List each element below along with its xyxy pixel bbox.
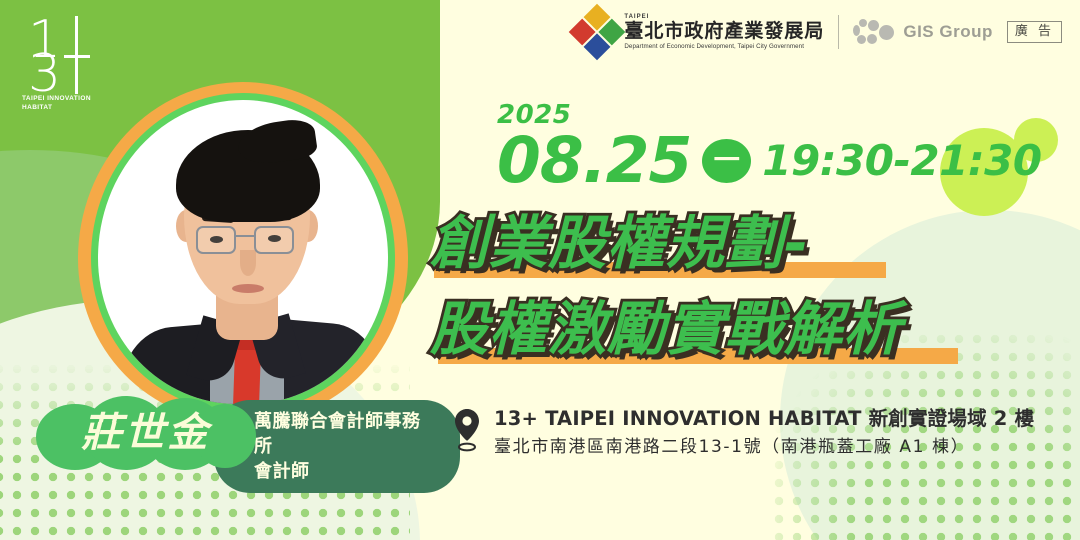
portrait-illustration [98,100,388,404]
venue-text: 13+ TAIPEI INNOVATION HABITAT 新創實證場域 2 樓… [494,406,1034,461]
glasses-right-lens [254,226,294,254]
gis-group-name: GIS Group [903,22,993,42]
event-date-row: 08.25 一 19:30-21:30 [497,128,1042,194]
gis-dots-icon [853,17,895,47]
title-line-1-wrap: 創業股權規劃- [430,208,1010,282]
speaker-name: 莊世金 [82,411,211,455]
venue-address: 臺北市南港區南港路二段13-1號（南港瓶蓋工廠 A1 棟） [494,434,1034,461]
habitat-logo-digit-three: 3 [28,48,61,100]
event-banner: 1 3 TAIPEI INNOVATION HABITAT TAIPEI 臺北市… [0,0,1080,540]
taipei-logo-name-cn: 臺北市政府產業發展局 [624,20,824,42]
speaker-role: 會計師 [254,459,438,484]
gis-group-logo: GIS Group [853,17,993,47]
title-line-1: 創業股權規劃- [430,208,1010,278]
taipei-logo-name-en: Department of Economic Development, Taip… [624,43,824,50]
venue-name: 13+ TAIPEI INNOVATION HABITAT 新創實證場域 2 樓 [494,406,1034,432]
habitat-logo-plus-horizontal [64,55,90,58]
event-datetime: 2025 08.25 一 19:30-21:30 [497,100,1042,194]
header-logos: TAIPEI 臺北市政府產業發展局 Department of Economic… [577,12,1062,52]
glasses-left-lens [196,226,236,254]
speaker-portrait [78,82,408,432]
event-time: 19:30-21:30 [762,138,1041,184]
taipei-logo-text: TAIPEI 臺北市政府產業發展局 Department of Economic… [624,14,824,50]
portrait-photo [98,100,388,404]
location-pin-icon [452,408,482,452]
event-date: 08.25 [497,128,691,194]
speaker-name-blob: 莊世金 [36,396,256,470]
ad-label: 廣 告 [1007,21,1062,43]
taipei-diamond-icon [569,4,626,61]
event-weekday-badge: 一 [702,139,751,183]
header-divider [838,15,839,49]
venue-info: 13+ TAIPEI INNOVATION HABITAT 新創實證場域 2 樓… [452,406,1034,461]
title-line-2: 股權激勵實戰解析 [430,294,1010,364]
event-title: 創業股權規劃- 股權激勵實戰解析 [430,208,1010,380]
title-line-2-wrap: 股權激勵實戰解析 [430,294,1010,368]
habitat-logo-mark: 1 3 [22,14,102,86]
taipei-city-logo: TAIPEI 臺北市政府產業發展局 Department of Economic… [577,12,824,52]
speaker-org: 萬騰聯合會計師事務所 [254,409,438,459]
